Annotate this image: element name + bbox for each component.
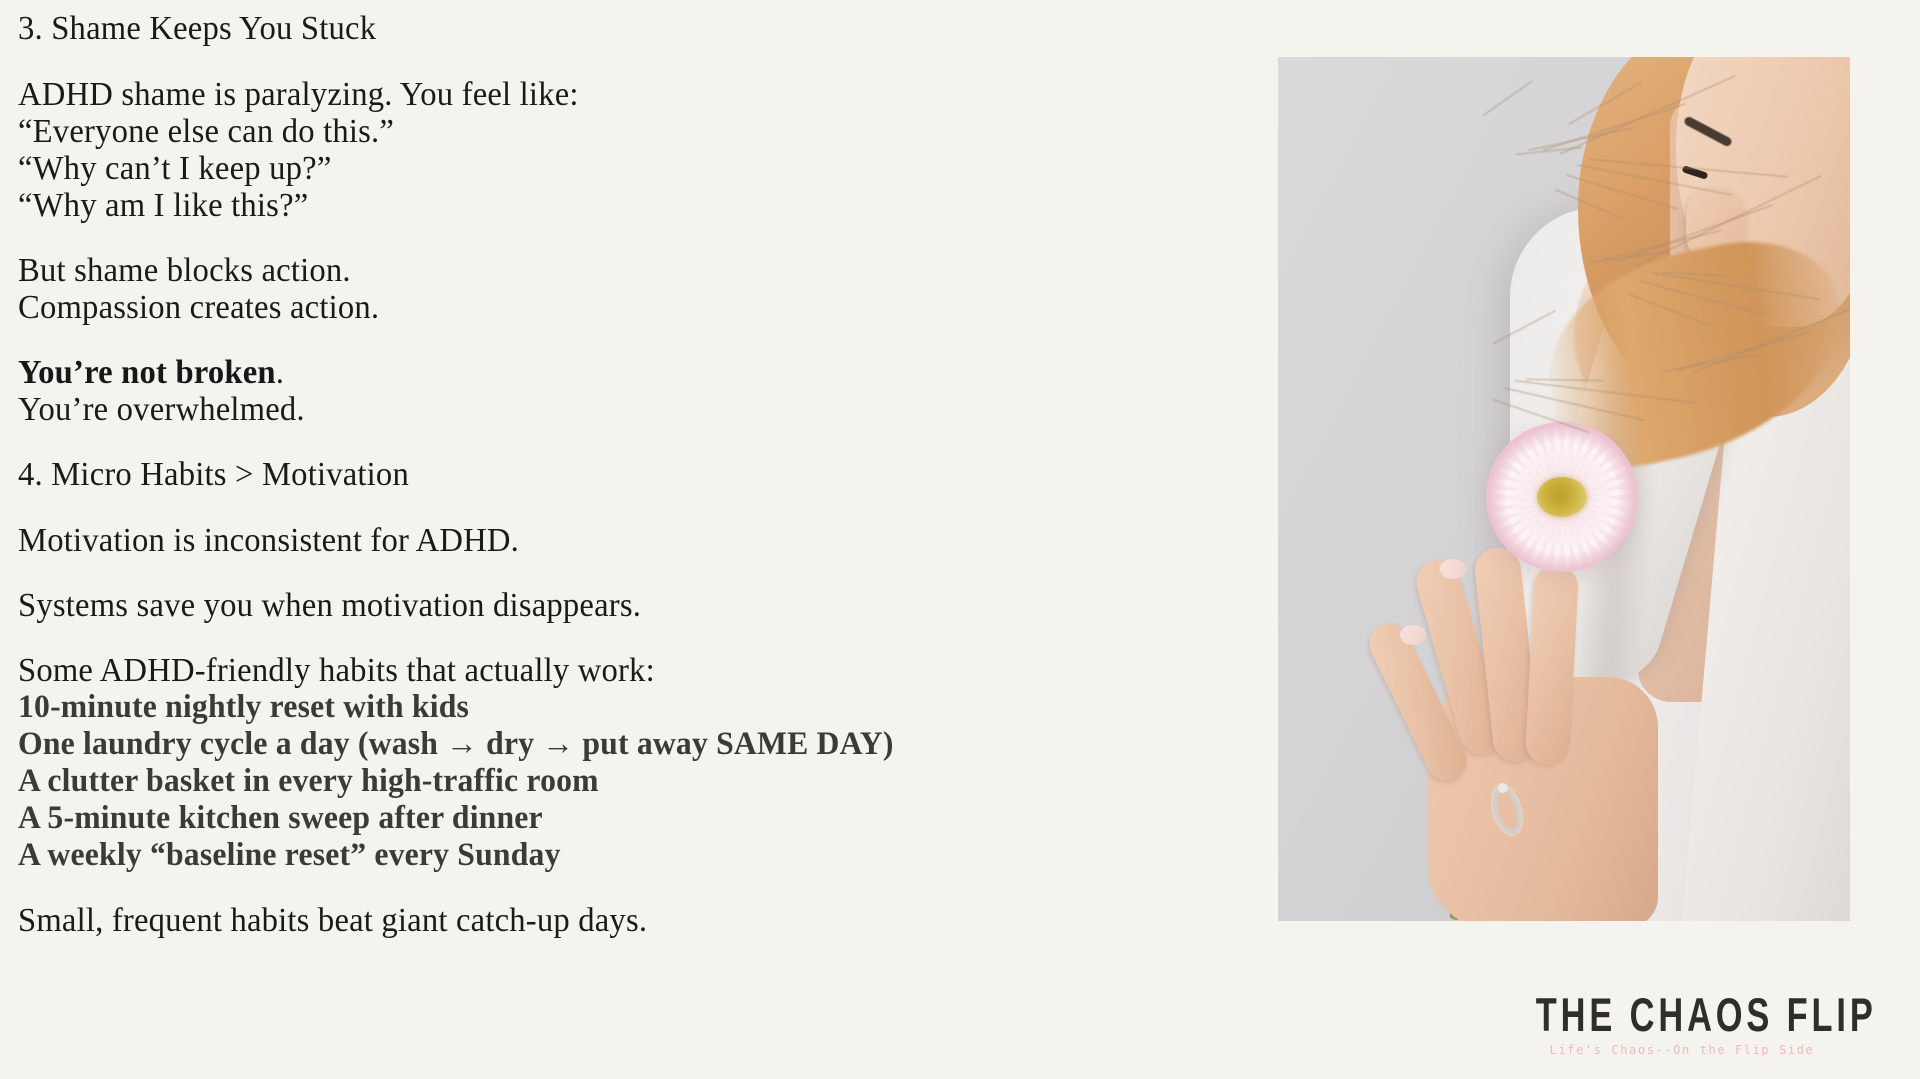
habit-item: A 5-minute kitchen sweep after dinner (18, 800, 1208, 837)
systems-save-you-line: Systems save you when motivation disappe… (18, 587, 1208, 624)
habit-item: A weekly “baseline reset” every Sunday (18, 837, 1208, 874)
photo-illustration (1278, 57, 1850, 921)
hero-photo (1278, 57, 1850, 921)
pink-gerbera-flower (1486, 422, 1638, 572)
habit-item: A clutter basket in every high-traffic r… (18, 763, 1208, 800)
flower-center (1537, 477, 1587, 517)
section-3-quotes-block: ADHD shame is paralyzing. You feel like:… (18, 76, 1258, 224)
shame-quote-2: “Why can’t I keep up?” (18, 150, 1208, 187)
systems-save-you-block: Systems save you when motivation disappe… (18, 587, 1258, 624)
affirmation-block: You’re not broken. You’re overwhelmed. (18, 354, 1258, 428)
motivation-inconsistent-line: Motivation is inconsistent for ADHD. (18, 522, 1208, 559)
slide-canvas: 3. Shame Keeps You Stuck ADHD shame is p… (0, 0, 1920, 1079)
habit-item: 10-minute nightly reset with kids (18, 689, 1208, 726)
brand-logo: THE CHAOS FLIP Life's Chaos--On the Flip… (1512, 992, 1852, 1057)
shame-quote-1: “Everyone else can do this.” (18, 113, 1208, 150)
shame-intro-line: ADHD shame is paralyzing. You feel like: (18, 76, 1208, 113)
closing-line: Small, frequent habits beat giant catch-… (18, 902, 1208, 939)
section-4-heading-block: 4. Micro Habits > Motivation (18, 456, 1258, 494)
habit-item: One laundry cycle a day (wash → dry → pu… (18, 726, 1208, 763)
ring-stone (1498, 783, 1508, 793)
shame-blocks-action-line: But shame blocks action. (18, 252, 1208, 289)
habits-list-block: Some ADHD-friendly habits that actually … (18, 652, 1258, 874)
habits-intro-line: Some ADHD-friendly habits that actually … (18, 652, 1208, 689)
section-4-heading: 4. Micro Habits > Motivation (18, 456, 1208, 494)
section-3-heading-block: 3. Shame Keeps You Stuck (18, 10, 1258, 48)
affirmation-period: . (276, 354, 284, 391)
section-3-heading: 3. Shame Keeps You Stuck (18, 10, 1208, 48)
compassion-creates-action-line: Compassion creates action. (18, 289, 1208, 326)
hand (1388, 547, 1658, 921)
fingernail (1400, 625, 1426, 645)
motivation-inconsistent-block: Motivation is inconsistent for ADHD. (18, 522, 1258, 559)
shame-quote-3: “Why am I like this?” (18, 187, 1208, 224)
affirmation-line: You’re not broken. (18, 354, 1208, 391)
article-text-column: 3. Shame Keeps You Stuck ADHD shame is p… (18, 10, 1258, 967)
fingernail (1440, 559, 1466, 579)
brand-title: THE CHAOS FLIP (1536, 992, 1828, 1039)
shame-contrast-block: But shame blocks action. Compassion crea… (18, 252, 1258, 326)
brand-tagline: Life's Chaos--On the Flip Side (1512, 1043, 1852, 1057)
overwhelmed-line: You’re overwhelmed. (18, 391, 1208, 428)
closing-block: Small, frequent habits beat giant catch-… (18, 902, 1258, 939)
affirmation-bold-text: You’re not broken (18, 354, 276, 391)
